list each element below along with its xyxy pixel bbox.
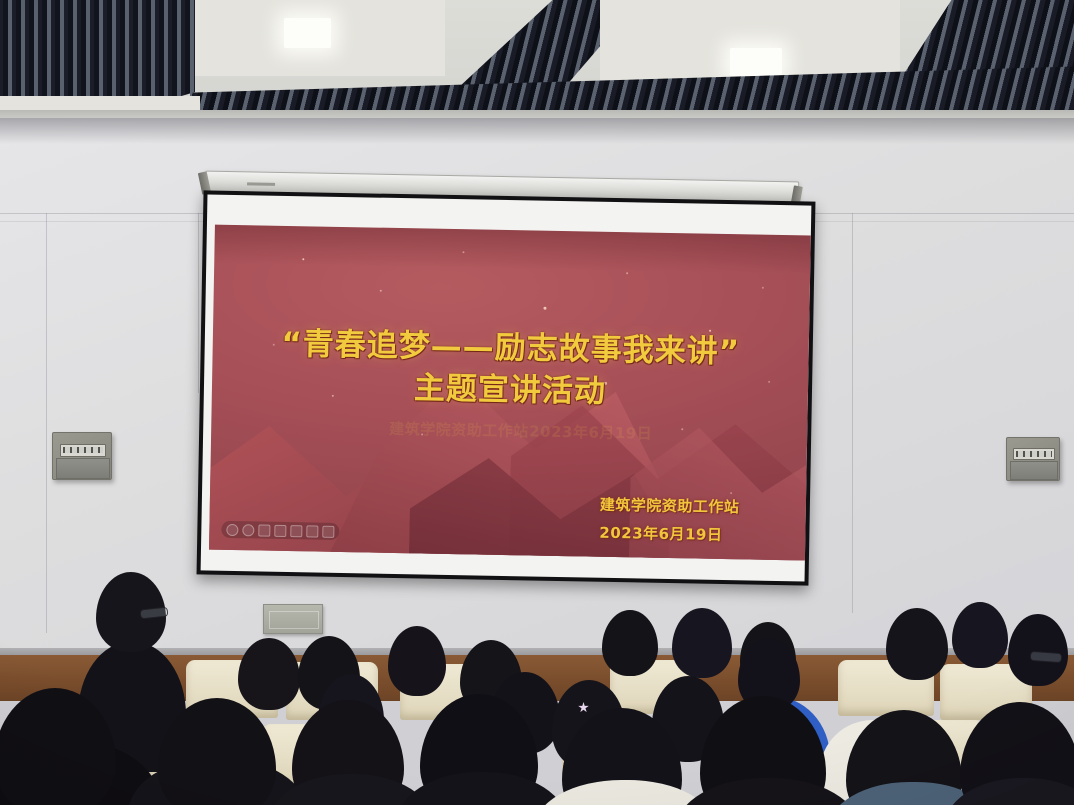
more-options-icon[interactable] (322, 525, 334, 537)
wall-seam-vertical-c (852, 213, 853, 613)
previous-slide-icon[interactable] (226, 523, 238, 535)
breaker-slot-left (60, 444, 106, 457)
person-head (886, 608, 948, 680)
next-slide-icon[interactable] (242, 524, 254, 536)
person-head (602, 610, 658, 676)
wall-top-shadow (0, 118, 1074, 144)
breaker-slot-right (1013, 448, 1055, 460)
ceiling-light-left (284, 18, 331, 48)
slide-grid-icon[interactable] (274, 524, 286, 536)
person-head (952, 602, 1008, 668)
wall-seam-vertical-b (198, 213, 199, 393)
person-head (238, 638, 300, 710)
projected-slide: “青春追梦——励志故事我来讲” 主题宣讲活动 建筑学院资助工作站 2023年6月… (209, 225, 811, 561)
person-head (672, 608, 732, 678)
ceiling-light-right (730, 48, 782, 76)
slide-ghost-org: 建筑学院资助工作站 (389, 418, 529, 442)
slide-ghost-date: 2023年6月19日 (529, 420, 652, 443)
eyeglasses (1030, 651, 1063, 663)
slide-date: 2023年6月19日 (599, 522, 722, 545)
panel-lid-left (56, 458, 109, 478)
slide-title: “青春追梦——励志故事我来讲” 主题宣讲活动 (212, 325, 809, 414)
projector-screen-surface: “青春追梦——励志故事我来讲” 主题宣讲活动 建筑学院资助工作站 2023年6月… (201, 194, 812, 581)
lecture-hall-photo: “青春追梦——励志故事我来讲” 主题宣讲活动 建筑学院资助工作站 2023年6月… (0, 0, 1074, 805)
pen-icon[interactable] (258, 524, 270, 536)
housing-brand-label (247, 182, 275, 186)
ppt-presenter-toolbar[interactable] (221, 521, 339, 540)
projector-screen-frame: “青春追梦——励志故事我来讲” 主题宣讲活动 建筑学院资助工作站 2023年6月… (197, 190, 816, 585)
electrical-panel-left[interactable] (52, 432, 112, 480)
blackout-icon[interactable] (306, 525, 318, 537)
panel-lid-right (1010, 461, 1058, 480)
zoom-icon[interactable] (290, 525, 302, 537)
person-head (388, 626, 446, 696)
slide-organization: 建筑学院资助工作站 (600, 494, 740, 518)
electrical-panel-right[interactable] (1006, 437, 1060, 481)
audience-area (0, 560, 1074, 805)
person-head (1008, 614, 1068, 686)
